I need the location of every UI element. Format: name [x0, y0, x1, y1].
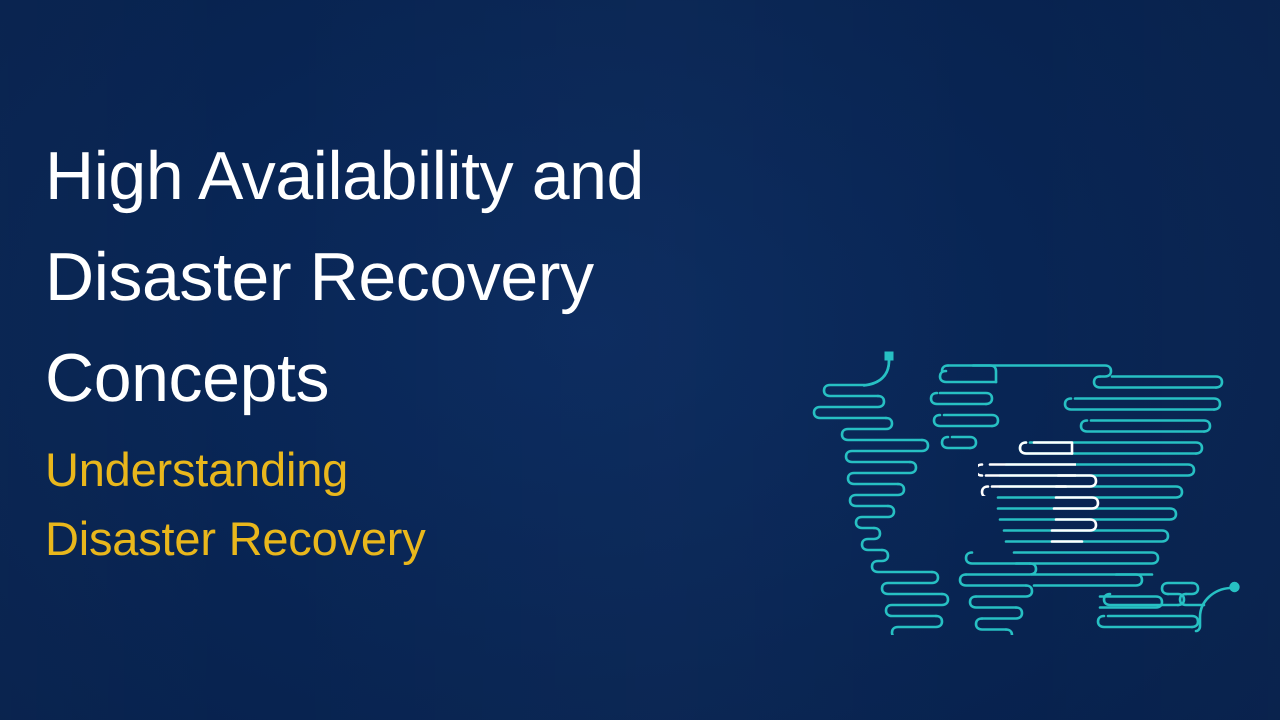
region-europe-highlight-east: [1052, 476, 1098, 542]
world-map-icon: .t { fill:none; stroke:#27c0c3; stroke-w…: [800, 345, 1280, 635]
region-central-america: [862, 528, 932, 572]
page-title: High Availability and Disaster Recovery …: [45, 126, 845, 429]
region-europe-highlight: [976, 443, 1080, 542]
title-slide: High Availability and Disaster Recovery …: [0, 0, 1280, 720]
region-southeast-asia: [1100, 575, 1162, 608]
slide-subtitle: Understanding Disaster Recovery: [45, 429, 845, 573]
region-africa: [960, 553, 1050, 636]
region-eurasia-north: [973, 366, 1222, 454]
region-greenland: [931, 366, 998, 449]
title-text-block: High Availability and Disaster Recovery …: [45, 126, 845, 573]
map-endpoint-square: [864, 352, 894, 386]
region-south-america: [882, 572, 1050, 635]
region-australia: [1098, 583, 1204, 635]
